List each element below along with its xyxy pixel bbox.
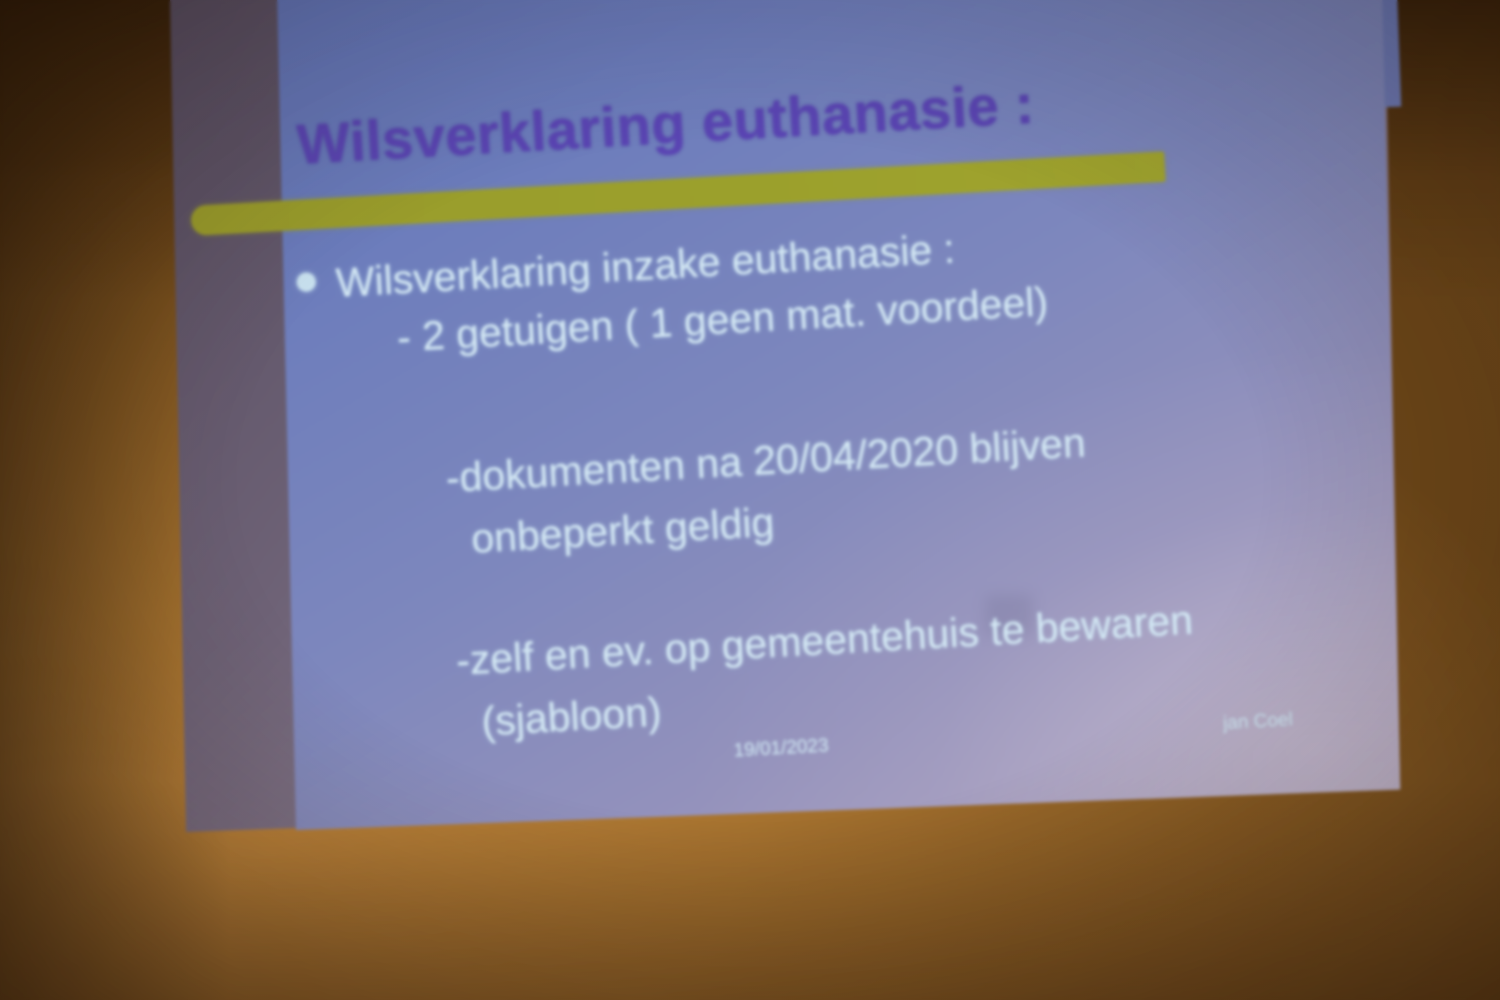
- footer-author: jan Coel: [1223, 709, 1294, 735]
- screenshot-stage: Wilsverklaring euthanasie : Wilsverklari…: [0, 0, 1500, 1000]
- bullet-dot-icon: [296, 272, 316, 292]
